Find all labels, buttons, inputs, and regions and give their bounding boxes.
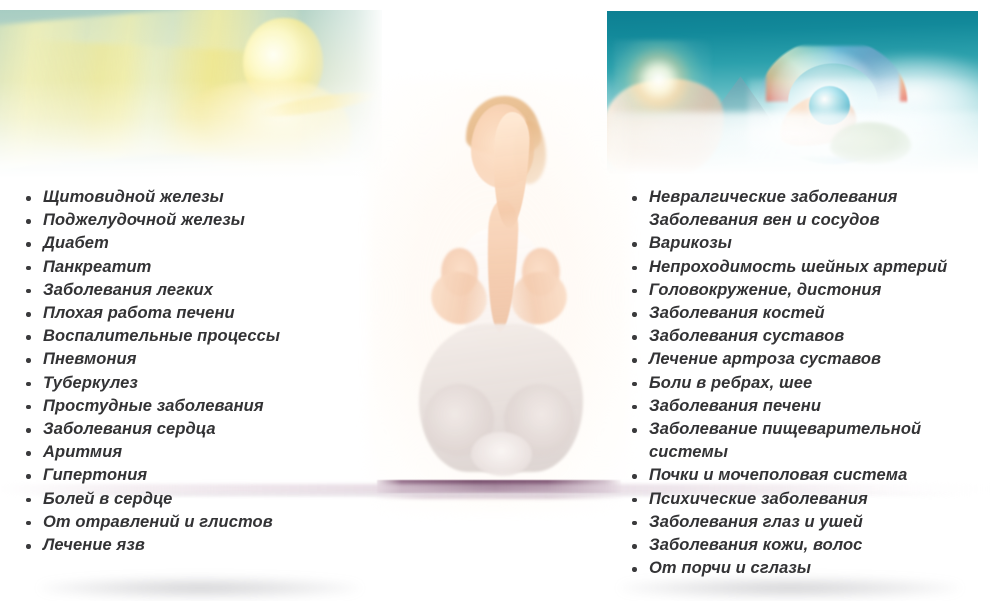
list-left-item: Лечение язв [22,534,362,557]
list-left-item: Плохая работа печени [22,302,362,325]
list-left-item: Поджелудочной железы [22,209,362,232]
list-right-item: Невралгические заболевания [628,186,978,209]
list-left-item: Панкреатит [22,256,362,279]
list-left-item: Простудные заболевания [22,395,362,418]
list-left-item: Щитовидной железы [22,186,362,209]
list-left-item: Пневмония [22,348,362,371]
hero-left-right-fade [0,10,382,178]
glowing-golden-figure-image [0,10,382,178]
list-right-item: Заболевания печени [628,395,978,418]
list-right-item: Головокружение, дистония [628,279,978,302]
list-right-item: Заболевания кожи, волос [628,534,978,557]
list-left-item: Болей в сердце [22,488,362,511]
yoga-foot [471,432,532,476]
list-right-item: От порчи и сглазы [628,557,978,580]
list-right-item: Психические заболевания [628,488,978,511]
hero-right-bottom-fade [607,11,978,174]
list-left-item: Аритмия [22,441,362,464]
list-right-item: Заболевание пищеварительной [628,418,978,441]
list-right-item: Боли в ребрах, шее [628,372,978,395]
list-left-item: Заболевания сердца [22,418,362,441]
bottom-shadow-right [620,578,960,598]
list-right-item: Варикозы [628,232,978,255]
list-right-item: Заболевания суставов [628,325,978,348]
list-right-item: Заболевания костей [628,302,978,325]
page-root: Щитовидной железыПоджелудочной железыДиа… [0,0,991,601]
list-left-item: Воспалительные процессы [22,325,362,348]
list-left-item: Гипертония [22,464,362,487]
list-right-item: Лечение артроза суставов [628,348,978,371]
list-right-item-continuation: системы [628,441,978,464]
diseases-list-left: Щитовидной железыПоджелудочной железыДиа… [22,186,362,557]
list-right-item: Почки и мочеполовая система [628,464,978,487]
bottom-shadow-left [40,578,360,598]
woman-meditating-lotus-pose-image [382,96,616,496]
list-right-item: Непроходимость шейных артерий [628,256,978,279]
list-left-item: От отравлений и глистов [22,511,362,534]
list-left-item: Диабет [22,232,362,255]
hands-holding-rainbow-earth-image [607,11,978,174]
list-right-item-continuation: Заболевания вен и сосудов [628,209,978,232]
list-right-item: Заболевания глаз и ушей [628,511,978,534]
list-left-item: Туберкулез [22,372,362,395]
diseases-list-right: Невралгические заболеванияЗаболевания ве… [628,186,978,580]
list-left-item: Заболевания легких [22,279,362,302]
